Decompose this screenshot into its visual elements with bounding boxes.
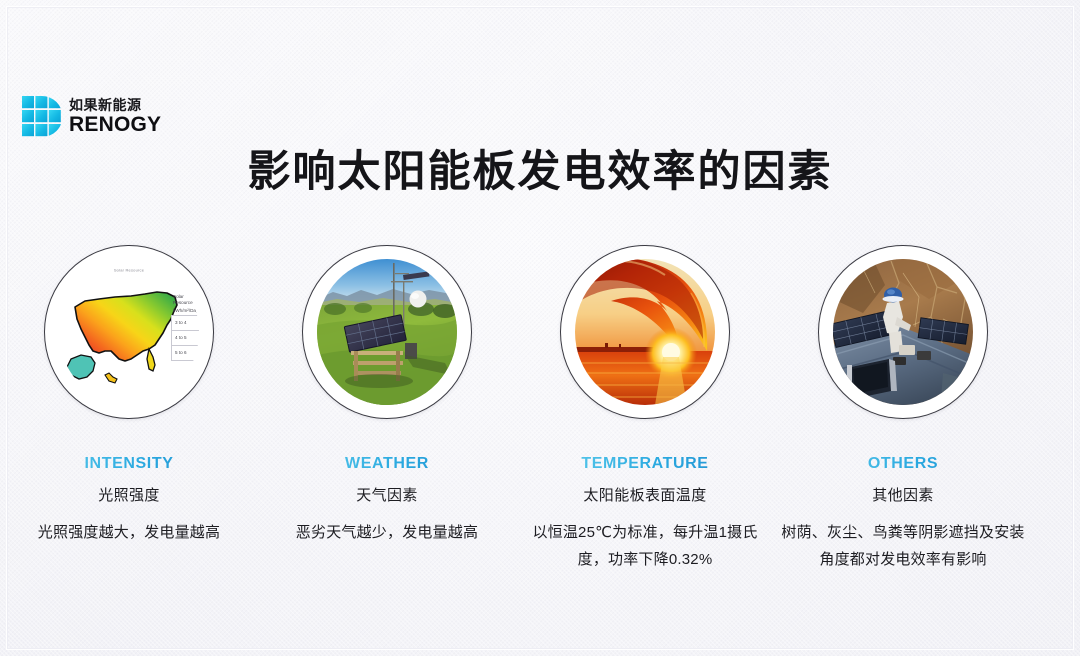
brand-name-en: RENOGY [69, 113, 161, 136]
map-legend: Solar Resource kWh/m²/Day 3 to 4 4 to 5 … [171, 293, 199, 361]
factor-caption-intensity: INTENSITY 光照强度 光照强度越大，发电量越高 [0, 454, 258, 546]
factor-description: 树荫、灰尘、鸟粪等阴影遮挡及安装角度都对发电效率有影响 [774, 519, 1032, 573]
factor-image-frame-temperature [560, 245, 730, 419]
factor-column-weather: WEATHER 天气因素 恶劣天气越少，发电量越高 [258, 245, 516, 573]
factor-label-cn: 其他因素 [774, 486, 1032, 506]
factor-label-en: INTENSITY [0, 454, 258, 474]
brand-logo: 如果新能源 RENOGY [22, 96, 161, 137]
factor-column-intensity: Solar Resource [0, 245, 258, 573]
rooftop-solar-installation-image [833, 259, 973, 405]
map-legend-row: 5 to 6 [171, 345, 199, 361]
page-title: 影响太阳能板发电效率的因素 [0, 146, 1080, 198]
renogy-solar-grid-logo-icon [22, 96, 62, 137]
factor-columns: Solar Resource [0, 245, 1080, 573]
factor-label-en: TEMPERATURE [516, 454, 774, 474]
factor-label-en: WEATHER [258, 454, 516, 474]
factor-caption-temperature: TEMPERATURE 太阳能板表面温度 以恒温25℃为标准，每升温1摄氏度，功… [516, 454, 774, 573]
factor-label-cn: 太阳能板表面温度 [516, 486, 774, 506]
us-solar-irradiance-map-image: Solar Resource [59, 259, 199, 405]
factor-description: 以恒温25℃为标准，每升温1摄氏度，功率下降0.32% [516, 519, 774, 573]
factor-caption-others: OTHERS 其他因素 树荫、灰尘、鸟粪等阴影遮挡及安装角度都对发电效率有影响 [774, 454, 1032, 573]
factor-caption-weather: WEATHER 天气因素 恶劣天气越少，发电量越高 [258, 454, 516, 546]
factor-image-frame-intensity: Solar Resource [44, 245, 214, 419]
infographic-page: 如果新能源 RENOGY 影响太阳能板发电效率的因素 Solar Resourc… [0, 0, 1080, 656]
solar-weather-station-field-image [317, 259, 457, 405]
factor-description: 光照强度越大，发电量越高 [0, 519, 258, 546]
brand-logo-text: 如果新能源 RENOGY [69, 96, 161, 136]
factor-column-others: OTHERS 其他因素 树荫、灰尘、鸟粪等阴影遮挡及安装角度都对发电效率有影响 [774, 245, 1032, 573]
factor-image-frame-weather [302, 245, 472, 419]
factor-description: 恶劣天气越少，发电量越高 [258, 519, 516, 546]
map-legend-row: 3 to 4 [171, 315, 199, 330]
factor-label-cn: 光照强度 [0, 486, 258, 506]
factor-label-en: OTHERS [774, 454, 1032, 474]
map-legend-unit: kWh/m²/Day [171, 307, 199, 315]
factor-image-frame-others [818, 245, 988, 419]
map-legend-title: Solar Resource [171, 293, 199, 307]
fiery-wave-sunset-image [575, 259, 715, 405]
brand-name-cn: 如果新能源 [69, 98, 161, 113]
factor-column-temperature: TEMPERATURE 太阳能板表面温度 以恒温25℃为标准，每升温1摄氏度，功… [516, 245, 774, 573]
map-legend-row: 4 to 5 [171, 330, 199, 345]
factor-label-cn: 天气因素 [258, 486, 516, 506]
